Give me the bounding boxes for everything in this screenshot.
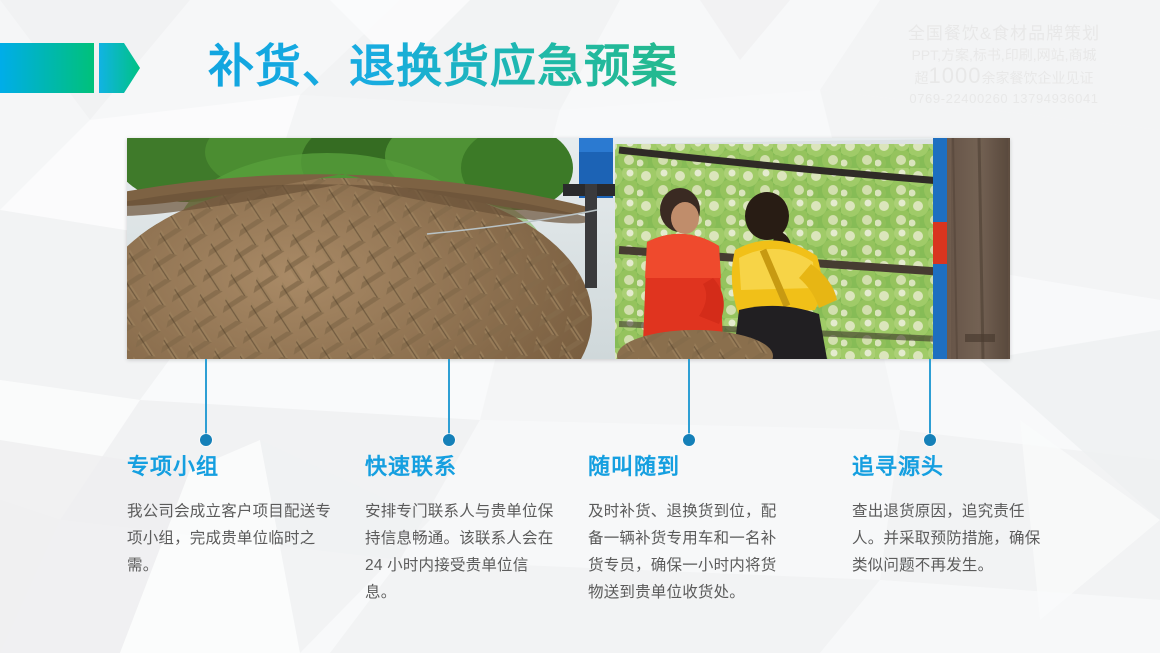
connector-dot [924, 434, 936, 446]
feature-heading-2: 快速联系 [365, 452, 555, 482]
connector-line-4 [924, 359, 936, 446]
watermark-line-3: 超1000余家餐饮企业见证 [870, 65, 1138, 89]
feature-body-2: 安排专门联系人与贵单位保持信息畅通。该联系人会在 24 小时内接受贵单位信息。 [365, 498, 555, 606]
feature-column-2: 快速联系 安排专门联系人与贵单位保持信息畅通。该联系人会在 24 小时内接受贵单… [365, 452, 555, 606]
watermark-line-3-number: 1000 [929, 63, 982, 88]
connector-line-1 [200, 359, 212, 446]
connector-line-3 [683, 359, 695, 446]
feature-body-3: 及时补货、退换货到位，配备一辆补货专用车和一名补货专员，确保一小时内将货物送到贵… [588, 498, 783, 606]
connector-stem [448, 359, 450, 434]
watermark-line-2: PPT,方案,标书,印刷,网站,商城 [870, 45, 1138, 65]
watermark-line-1: 全国餐饮&食材品牌策划 [870, 22, 1138, 45]
connector-stem [205, 359, 207, 434]
connector-stem [929, 359, 931, 434]
hero-photo [127, 138, 1010, 359]
watermark-line-3-suffix: 余家餐饮企业见证 [981, 70, 1093, 86]
slide-header: 补货、退换货应急预案 全国餐饮&食材品牌策划 PPT,方案,标书,印刷,网站,商… [0, 0, 1160, 125]
feature-heading-1: 专项小组 [127, 452, 332, 482]
watermark-phone-line: 0769-22400260 13794936041 [870, 89, 1138, 109]
feature-column-1: 专项小组 我公司会成立客户项目配送专项小组，完成贵单位临时之需。 [127, 452, 332, 579]
connector-line-2 [443, 359, 455, 446]
feature-heading-4: 追寻源头 [852, 452, 1047, 482]
feature-heading-3: 随叫随到 [588, 452, 783, 482]
connector-dot [443, 434, 455, 446]
watermark-line-3-prefix: 超 [915, 70, 929, 86]
hero-photo-illustration [127, 138, 1010, 359]
feature-column-3: 随叫随到 及时补货、退换货到位，配备一辆补货专用车和一名补货专员，确保一小时内将… [588, 452, 783, 606]
slide: 补货、退换货应急预案 全国餐饮&食材品牌策划 PPT,方案,标书,印刷,网站,商… [0, 0, 1160, 653]
gradient-arrow-logo-icon [0, 42, 140, 94]
feature-body-1: 我公司会成立客户项目配送专项小组，完成贵单位临时之需。 [127, 498, 332, 579]
feature-column-4: 追寻源头 查出退货原因，追究责任人。并采取预防措施，确保类似问题不再发生。 [852, 452, 1047, 579]
connector-dot [683, 434, 695, 446]
connector-stem [688, 359, 690, 434]
page-title: 补货、退换货应急预案 [208, 36, 678, 96]
watermark: 全国餐饮&食材品牌策划 PPT,方案,标书,印刷,网站,商城 超1000余家餐饮… [870, 22, 1138, 109]
feature-body-4: 查出退货原因，追究责任人。并采取预防措施，确保类似问题不再发生。 [852, 498, 1047, 579]
connector-dot [200, 434, 212, 446]
